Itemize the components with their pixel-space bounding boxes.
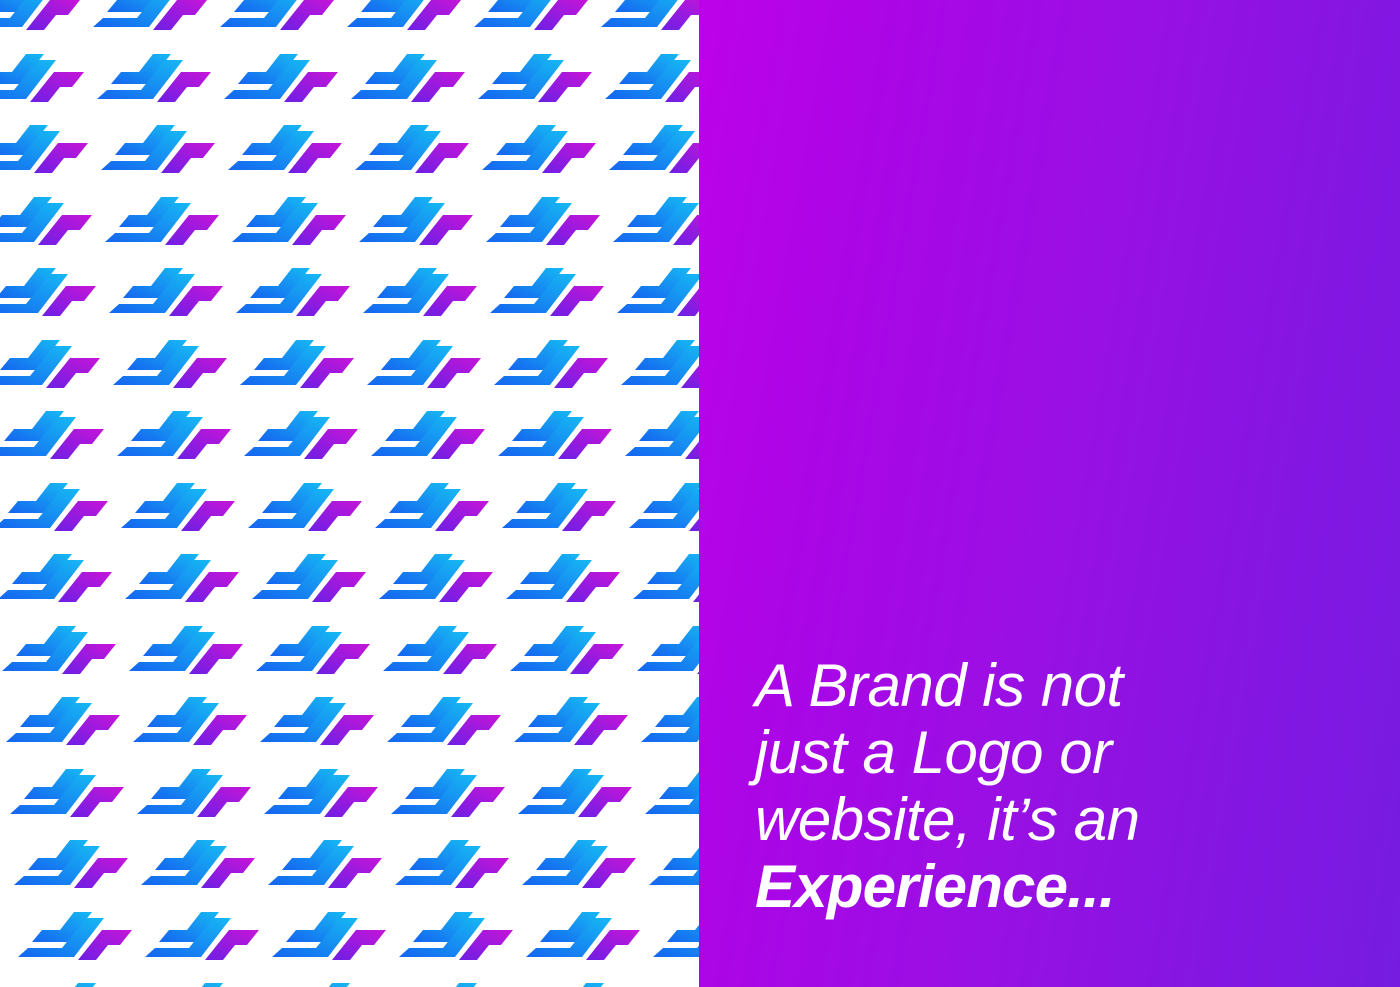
brand-logo-mark-icon [520,836,638,892]
brand-logo-mark-icon [4,693,122,749]
brand-logo-mark-icon [349,50,467,106]
brand-logo-mark-icon [0,0,82,34]
brand-logo-mark-icon [111,336,229,392]
brand-logo-mark-icon [599,0,699,34]
brand-logo-mark-icon [262,765,380,821]
brand-logo-mark-icon [0,50,86,106]
brand-logo-mark-icon [91,0,209,34]
quote-line-1: A Brand is not [755,652,1375,719]
brand-logo-mark-icon [361,264,479,320]
brand-logo-mark-icon [0,479,110,535]
brand-logo-mark-icon [472,0,590,34]
brand-logo-mark-icon [524,908,642,964]
brand-logo-mark-icon [258,693,376,749]
brand-logo-mark-icon [0,264,98,320]
brand-logo-mark-icon [0,336,102,392]
brand-logo-mark-icon [266,836,384,892]
brand-logo-mark-icon [492,336,610,392]
brand-logo-mark-icon [270,908,388,964]
brand-logo-mark-icon [250,550,368,606]
brand-logo-mark-icon [397,908,515,964]
brand-logo-mark-icon [127,622,245,678]
brand-logo-mark-icon [234,264,352,320]
quote-line-4: Experience... [755,853,1375,920]
brand-logo-mark-icon [615,264,699,320]
brand-logo-mark-icon [377,550,495,606]
brand-logo-mark-icon [603,50,699,106]
brand-logo-mark-icon [353,121,471,177]
brand-logo-mark-icon [254,622,372,678]
brand-logo-mark-icon [508,622,626,678]
brand-logo-mark-icon [496,407,614,463]
brand-logo-mark-icon [0,550,114,606]
brand-logo-mark-icon [611,193,699,249]
brand-logo-mark-icon [528,979,646,987]
brand-logo-mark-icon [0,193,94,249]
brand-logo-mark-icon [635,622,699,678]
brand-logo-mark-icon [226,121,344,177]
brand-logo-mark-icon [393,836,511,892]
brand-logo-mark-icon [655,979,699,987]
brand-logo-mark-icon [504,550,622,606]
brand-logo-mark-icon [115,407,233,463]
quote-panel: A Brand is not just a Logo or website, i… [699,0,1400,987]
brand-logo-mark-icon [20,979,138,987]
brand-logo-mark-icon [0,622,118,678]
brand-logo-mark-icon [512,693,630,749]
brand-logo-mark-icon [369,407,487,463]
brand-logo-mark-icon [119,479,237,535]
brand-logo-mark-icon [0,121,90,177]
brand-logo-mark-icon [500,479,618,535]
brand-logo-mark-icon [373,479,491,535]
brand-logo-mark-icon [484,193,602,249]
brand-logo-mark-icon [242,407,360,463]
logo-pattern-panel [0,0,699,987]
brand-logo-mark-icon [516,765,634,821]
brand-logo-mark-icon [643,765,699,821]
brand-logo-mark-icon [619,336,699,392]
brand-logo-mark-icon [639,693,699,749]
quote-text-block: A Brand is not just a Logo or website, i… [755,652,1375,920]
brand-logo-mark-icon [222,50,340,106]
quote-line-3: website, it’s an [755,786,1375,853]
brand-logo-mark-icon [401,979,519,987]
brand-logo-mark-icon [143,908,261,964]
brand-logo-mark-icon [147,979,265,987]
brand-logo-mark-icon [131,693,249,749]
brand-logo-mark-icon [238,336,356,392]
brand-logo-mark-icon [476,50,594,106]
brand-logo-mark-icon [345,0,463,34]
brand-logo-mark-icon [99,121,217,177]
brand-logo-mark-icon [246,479,364,535]
brand-logo-mark-icon [0,407,106,463]
brand-logo-mark-icon [135,765,253,821]
slide-canvas: A Brand is not just a Logo or website, i… [0,0,1400,987]
brand-logo-mark-icon [230,193,348,249]
brand-logo-mark-icon [103,193,221,249]
brand-logo-mark-icon [16,908,134,964]
brand-logo-mark-icon [12,836,130,892]
brand-logo-mark-icon [357,193,475,249]
brand-logo-mark-icon [623,407,699,463]
brand-logo-mark-icon [274,979,392,987]
brand-logo-mark-icon [385,693,503,749]
brand-logo-mark-icon [123,550,241,606]
brand-logo-mark-icon [627,479,699,535]
brand-logo-mark-icon [365,336,483,392]
brand-logo-mark-icon [218,0,336,34]
brand-logo-mark-icon [95,50,213,106]
brand-logo-mark-icon [488,264,606,320]
brand-logo-mark-icon [607,121,699,177]
brand-logo-mark-icon [8,765,126,821]
brand-logo-mark-icon [651,908,699,964]
quote-line-2: just a Logo or [755,719,1375,786]
brand-logo-mark-icon [381,622,499,678]
brand-logo-mark-icon [647,836,699,892]
brand-logo-mark-icon [480,121,598,177]
brand-logo-mark-icon [139,836,257,892]
brand-logo-mark-icon [389,765,507,821]
brand-logo-mark-icon [631,550,699,606]
brand-logo-mark-icon [107,264,225,320]
